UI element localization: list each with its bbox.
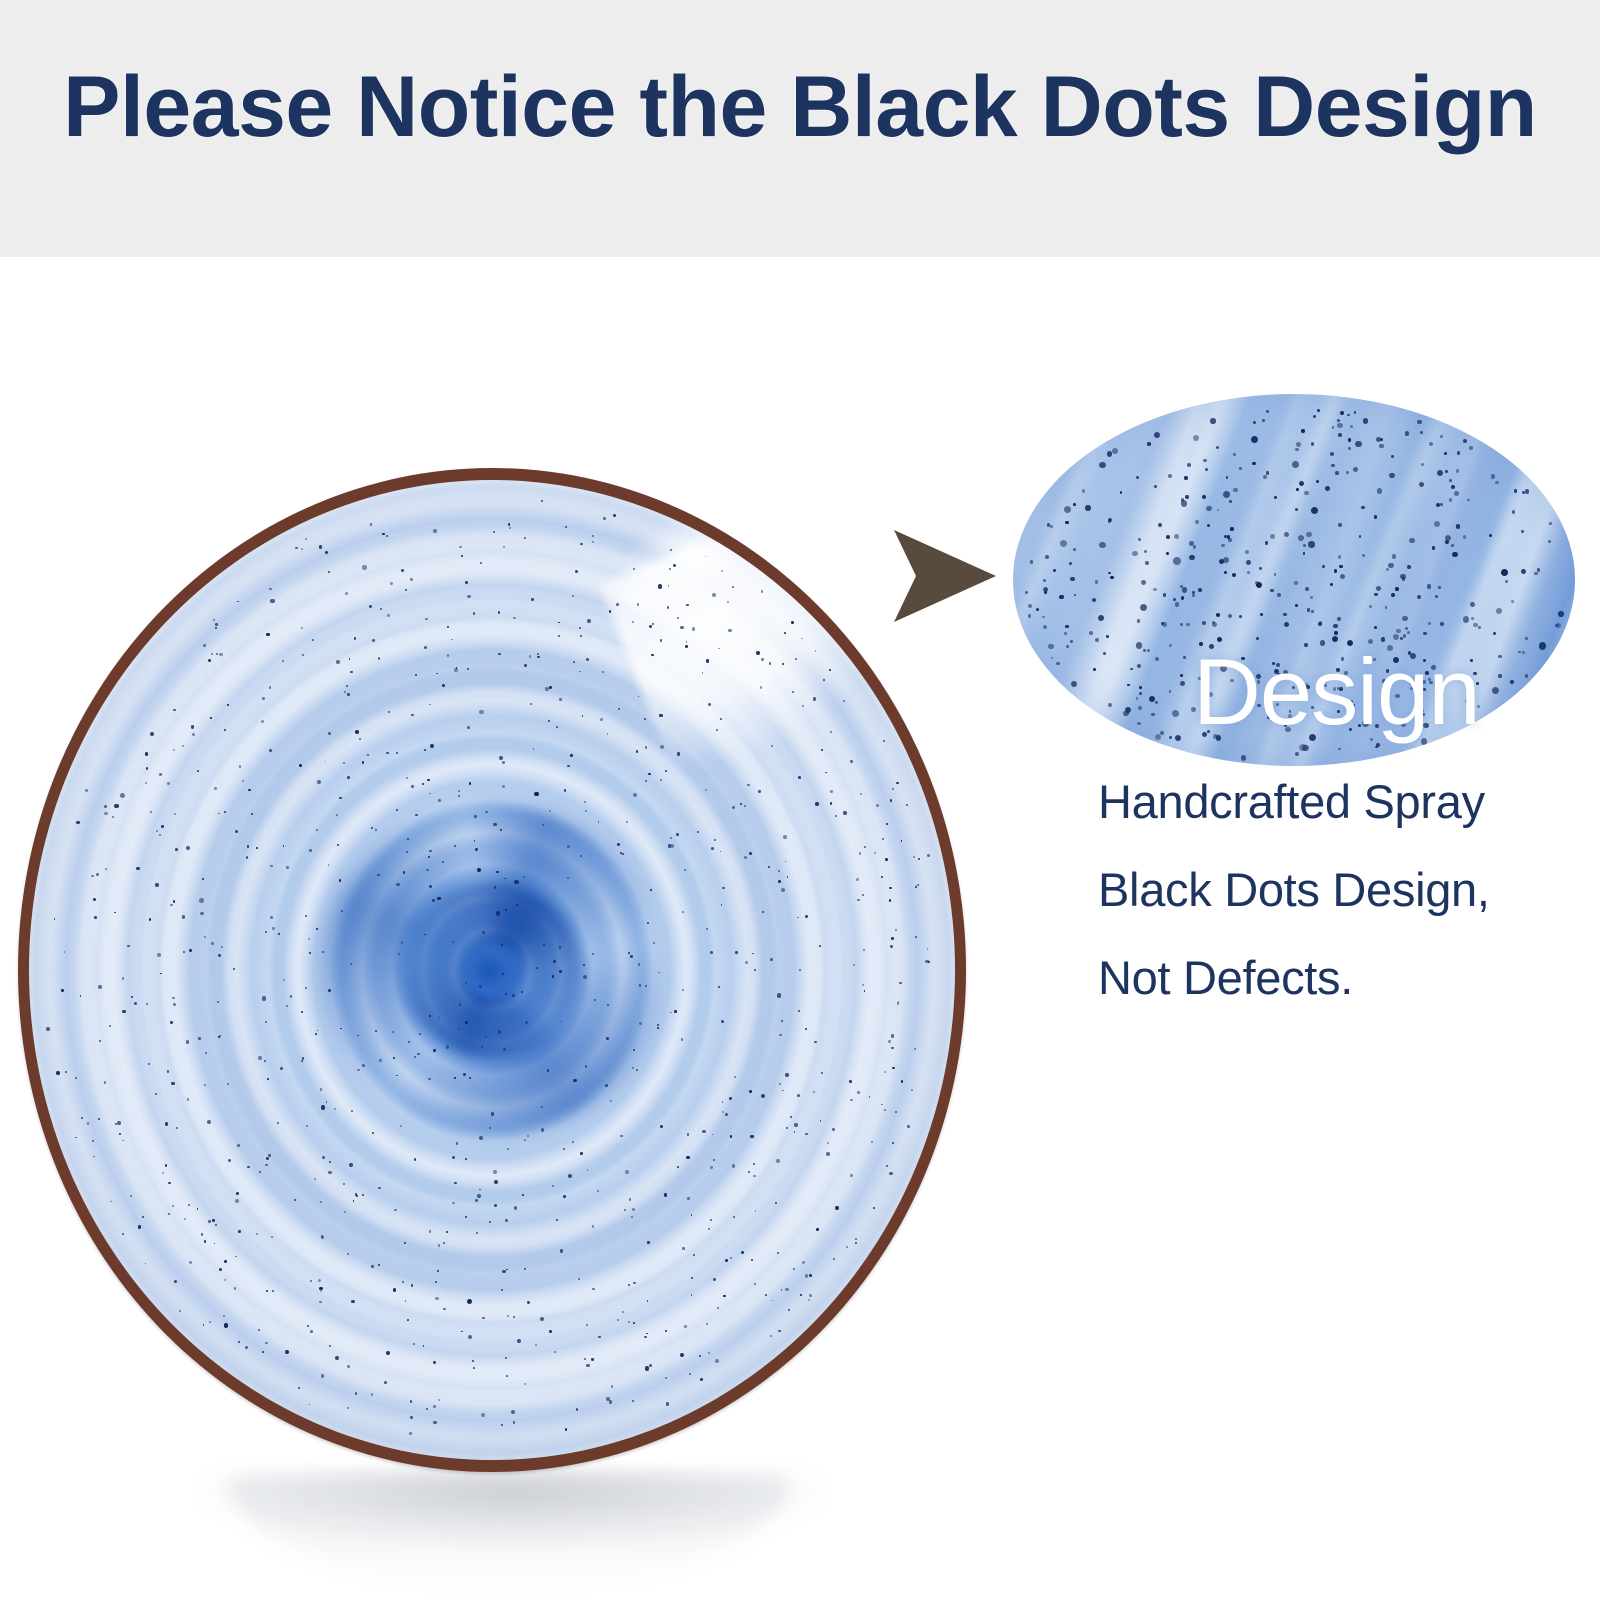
- plate-reflection: [228, 1478, 788, 1588]
- description-text: Handcrafted Spray Black Dots Design, Not…: [1098, 758, 1568, 1022]
- zoom-detail-label: Design: [1193, 645, 1480, 739]
- description-line-3: Not Defects.: [1098, 934, 1568, 1022]
- description-line-2: Black Dots Design,: [1098, 846, 1568, 934]
- page-title: Please Notice the Black Dots Design: [0, 58, 1600, 157]
- plate-inner-shading: [29, 480, 955, 1460]
- plate-rim: [18, 468, 966, 1472]
- description-line-1: Handcrafted Spray: [1098, 758, 1568, 846]
- plate-glaze-surface: [29, 480, 955, 1460]
- plate-image: [18, 468, 966, 1472]
- product-infographic: Please Notice the Black Dots Design: [0, 0, 1600, 1600]
- arrow-right-icon: [886, 526, 996, 626]
